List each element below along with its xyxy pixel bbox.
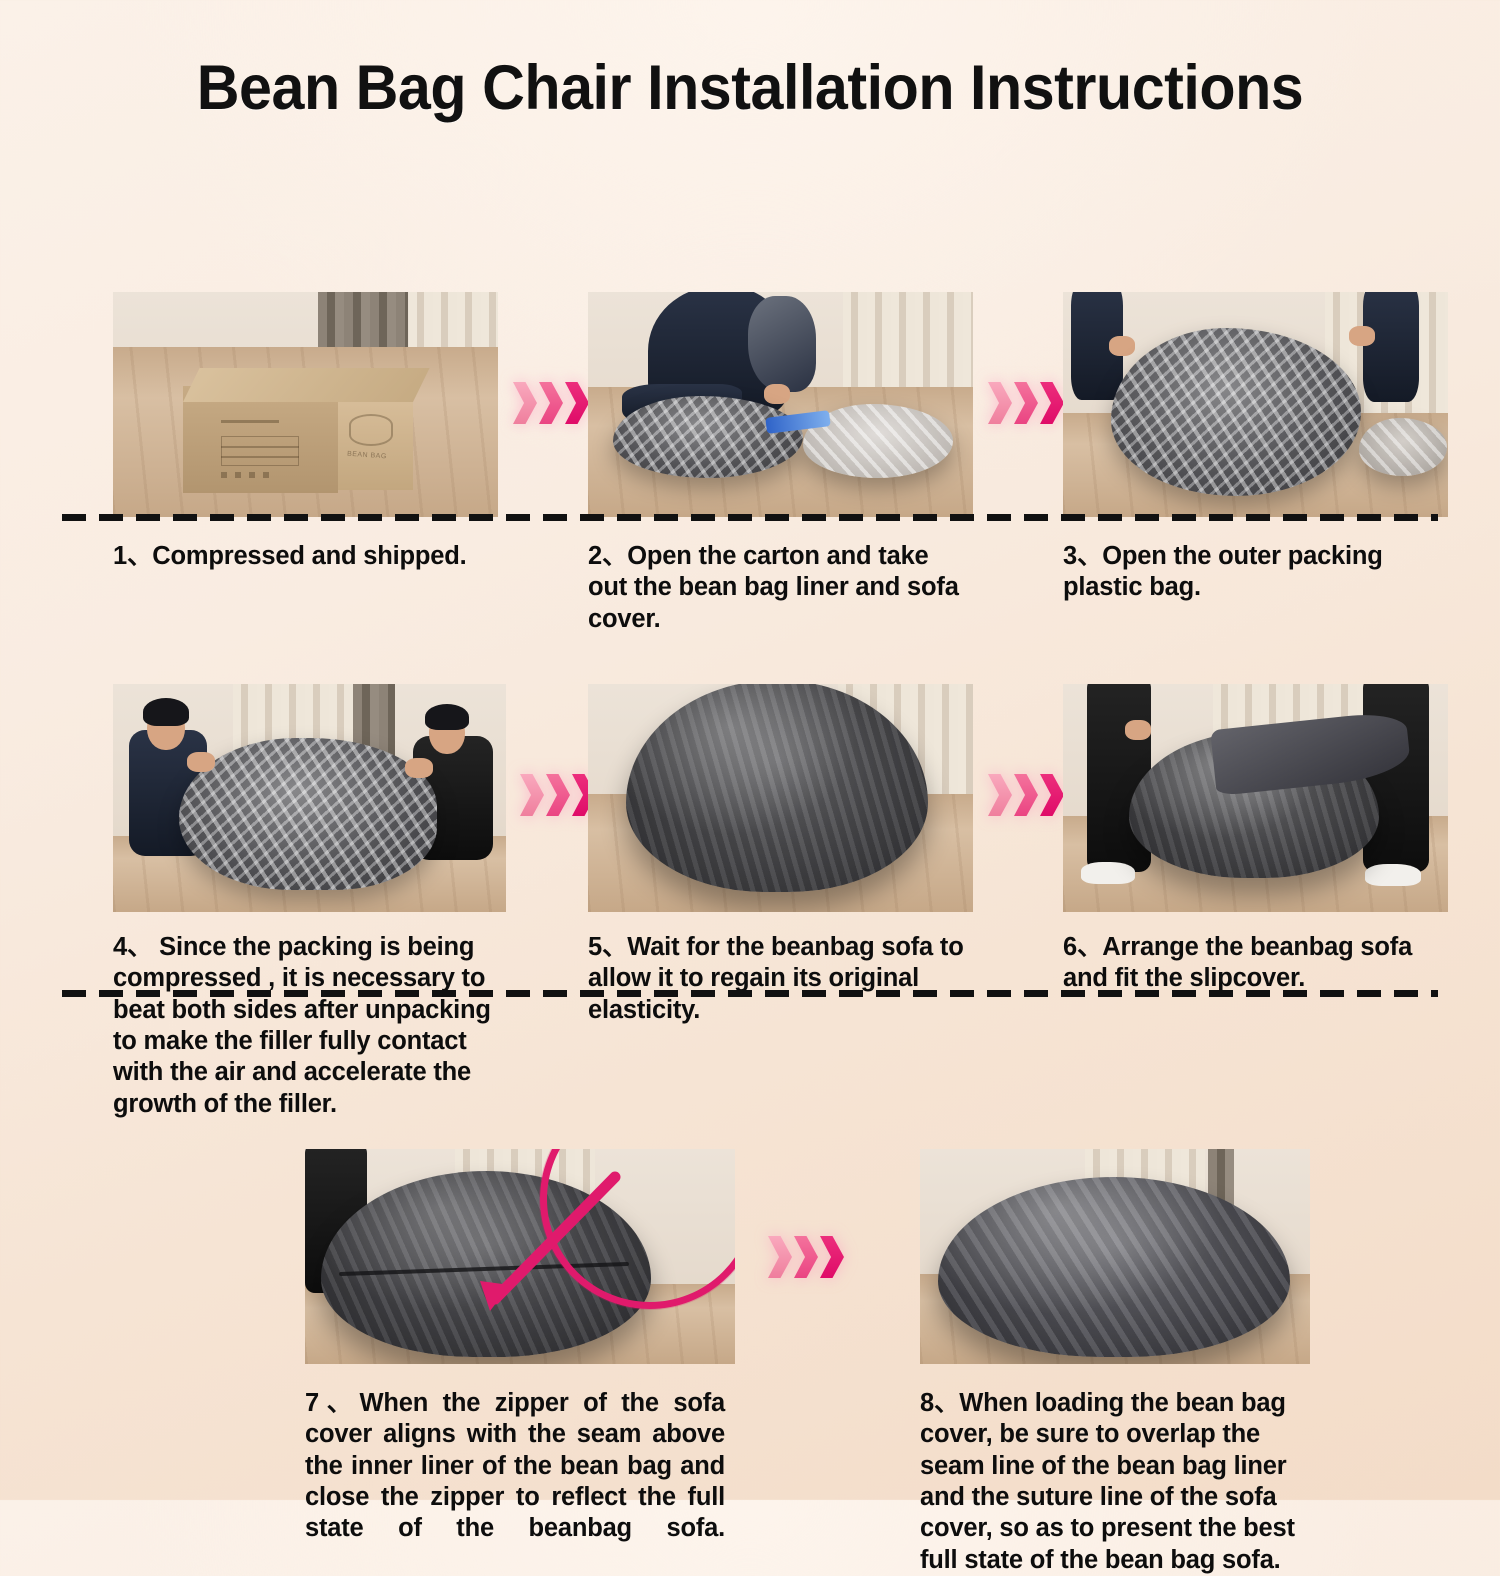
step-photo-7 — [305, 1149, 735, 1364]
step-photo-3 — [1063, 292, 1448, 517]
step-photo-6 — [1063, 684, 1448, 912]
step-caption-3: 3、Open the outer packing plastic bag. — [1063, 541, 1448, 604]
step-arrow-5-to-6 — [988, 774, 1064, 816]
chevron-icon — [513, 382, 537, 424]
step-card-8: 8、When loading the bean bag cover, be su… — [920, 1149, 1310, 1576]
step-photo-1: BEAN BAG — [113, 292, 498, 517]
step-card-2: 2、Open the carton and take out the bean … — [588, 292, 973, 635]
step-arrow-4-to-5 — [520, 774, 596, 816]
step-photo-4 — [113, 684, 506, 912]
chevron-icon — [520, 774, 544, 816]
chevron-icon — [820, 1236, 844, 1278]
chevron-icon — [768, 1236, 792, 1278]
page-title: Bean Bag Chair Installation Instructions — [45, 0, 1455, 124]
chevron-icon — [1014, 382, 1038, 424]
spare-bag — [1359, 418, 1447, 476]
step-arrow-7-to-8 — [768, 1236, 844, 1278]
chevron-icon — [794, 1236, 818, 1278]
hand-left — [1109, 336, 1135, 356]
step-caption-4: 4、 Since the packing is being compressed… — [113, 932, 517, 1120]
person-left-hair — [143, 698, 189, 726]
step-photo-8 — [920, 1149, 1310, 1364]
chevron-icon — [539, 382, 563, 424]
chevron-icon — [988, 382, 1012, 424]
person-right — [1363, 684, 1429, 872]
step-caption-5: 5、Wait for the beanbag sofa to allow it … — [588, 932, 973, 1026]
chevron-icon — [1040, 382, 1064, 424]
expanded-beanbag-liner — [626, 684, 928, 892]
person-sleeve — [748, 296, 816, 392]
vacuum-bag-liner — [613, 396, 803, 478]
person-right — [1363, 292, 1419, 402]
hand-left — [1125, 720, 1151, 740]
step-arrow-2-to-3 — [988, 382, 1064, 424]
step-card-4: 4、 Since the packing is being compressed… — [113, 684, 506, 1120]
carton-box: BEAN BAG — [183, 368, 413, 493]
chevron-icon — [1014, 774, 1038, 816]
hand-right — [1349, 326, 1375, 346]
shoe-left — [1081, 862, 1135, 884]
step-arrow-1-to-2 — [513, 382, 589, 424]
shoe-right — [1365, 864, 1421, 886]
chevron-icon — [546, 774, 570, 816]
chevron-icon — [565, 382, 589, 424]
step-caption-6: 6、Arrange the beanbag sofa and fit the s… — [1063, 932, 1448, 995]
step-photo-5 — [588, 684, 973, 912]
step-photo-2 — [588, 292, 973, 517]
step-card-7: 7、When the zipper of the sofa cover alig… — [305, 1149, 735, 1576]
step-caption-1: 1、Compressed and shipped. — [113, 541, 498, 572]
person-right-hair — [425, 704, 469, 730]
chevron-icon — [988, 774, 1012, 816]
step-caption-7: 7、When the zipper of the sofa cover alig… — [305, 1388, 725, 1576]
hand-right — [405, 758, 433, 778]
pink-arrow-annotation — [440, 1159, 640, 1329]
scene-curtain-dark — [318, 292, 408, 354]
divider-row1-row2 — [62, 514, 1438, 521]
step-card-5: 5、Wait for the beanbag sofa to allow it … — [588, 684, 973, 1026]
step-card-1: BEAN BAG 1、Compressed and shipped. — [113, 292, 498, 572]
beanbag-liner-lifted — [179, 738, 437, 890]
step-caption-8: 8、When loading the bean bag cover, be su… — [920, 1388, 1316, 1576]
step-card-6: 6、Arrange the beanbag sofa and fit the s… — [1063, 684, 1448, 995]
step-card-3: 3、Open the outer packing plastic bag. — [1063, 292, 1448, 604]
person-hand — [764, 384, 790, 404]
divider-row2-row3 — [62, 990, 1438, 997]
chevron-icon — [1040, 774, 1064, 816]
wrapped-beanbag — [1111, 328, 1361, 496]
step-caption-2: 2、Open the carton and take out the bean … — [588, 541, 973, 635]
hand-left — [187, 752, 215, 772]
